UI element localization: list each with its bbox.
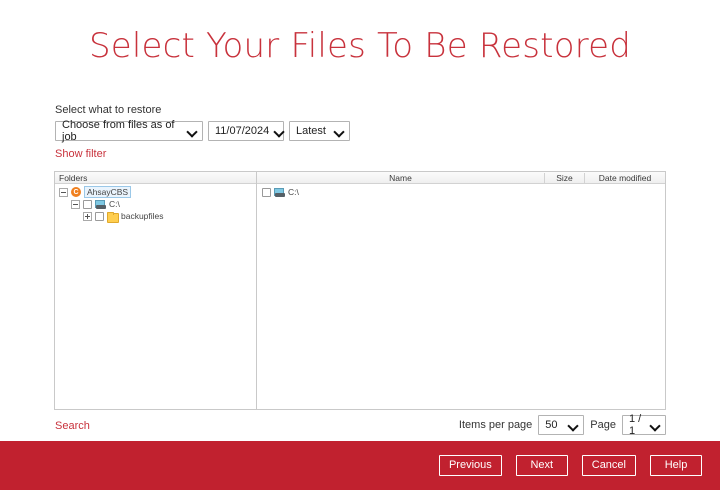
chevron-down-icon	[335, 127, 344, 136]
tree-node-ahsaycbs[interactable]: C AhsayCBS	[55, 186, 256, 198]
tree-node-c-drive[interactable]: C:\	[55, 198, 256, 210]
restore-selector-block: Select what to restore Choose from files…	[55, 104, 350, 141]
folder-tree: C AhsayCBS C:\ backupfiles	[55, 184, 256, 222]
file-row-name: C:\	[288, 187, 299, 197]
restore-time-select[interactable]: Latest	[289, 121, 350, 141]
restore-time-value: Latest	[296, 125, 326, 137]
file-list-row[interactable]: C:\	[257, 186, 665, 198]
restore-source-value: Choose from files as of job	[62, 119, 182, 143]
collapse-minus-icon[interactable]	[59, 188, 68, 197]
file-browser: Folders C AhsayCBS C:\ backupfiles	[54, 171, 666, 410]
chevron-down-icon	[188, 127, 197, 136]
folder-tree-header: Folders	[55, 172, 256, 184]
page-value: 1 / 1	[629, 413, 645, 437]
expand-plus-icon[interactable]	[83, 212, 92, 221]
chevron-down-icon	[651, 421, 660, 430]
restore-source-select[interactable]: Choose from files as of job	[55, 121, 203, 141]
page-select[interactable]: 1 / 1	[622, 415, 666, 435]
collapse-minus-icon[interactable]	[71, 200, 80, 209]
items-per-page-value: 50	[545, 419, 557, 431]
cancel-button[interactable]: Cancel	[582, 455, 636, 476]
folder-tree-pane: Folders C AhsayCBS C:\ backupfiles	[55, 172, 257, 409]
drive-icon	[274, 188, 285, 197]
size-column-header: Size	[544, 173, 584, 183]
items-per-page-select[interactable]: 50	[538, 415, 584, 435]
chevron-down-icon	[275, 127, 284, 136]
file-row-checkbox[interactable]	[262, 188, 271, 197]
items-per-page-label: Items per page	[459, 419, 532, 431]
ahsaycbs-logo-icon: C	[71, 187, 81, 197]
tree-node-checkbox[interactable]	[83, 200, 92, 209]
date-modified-column-header: Date modified	[584, 173, 665, 183]
restore-selector-label: Select what to restore	[55, 104, 350, 116]
file-list-pane: Name Size Date modified C:\	[257, 172, 665, 409]
tree-node-label: C:\	[109, 199, 120, 209]
file-list: C:\	[257, 184, 665, 198]
tree-node-checkbox[interactable]	[95, 212, 104, 221]
help-button[interactable]: Help	[650, 455, 702, 476]
tree-node-label: AhsayCBS	[84, 186, 131, 198]
file-list-header: Name Size Date modified	[257, 172, 665, 184]
chevron-down-icon	[569, 421, 578, 430]
previous-button[interactable]: Previous	[439, 455, 502, 476]
page-label: Page	[590, 419, 616, 431]
restore-selector-row: Choose from files as of job 11/07/2024 L…	[55, 121, 350, 141]
restore-date-value: 11/07/2024	[215, 125, 269, 137]
tree-node-label: backupfiles	[121, 211, 164, 221]
name-column-header: Name	[257, 173, 544, 183]
restore-date-select[interactable]: 11/07/2024	[208, 121, 284, 141]
folder-icon	[107, 212, 118, 221]
action-bar: Previous Next Cancel Help	[0, 441, 720, 490]
tree-node-backupfiles[interactable]: backupfiles	[55, 210, 256, 222]
folders-column-header: Folders	[55, 173, 87, 183]
pagination-controls: Items per page 50 Page 1 / 1	[459, 415, 666, 435]
show-filter-link[interactable]: Show filter	[55, 148, 106, 160]
search-link[interactable]: Search	[55, 420, 90, 432]
drive-icon	[95, 200, 106, 209]
page-title: Select Your Files To Be Restored	[0, 26, 720, 66]
next-button[interactable]: Next	[516, 455, 568, 476]
